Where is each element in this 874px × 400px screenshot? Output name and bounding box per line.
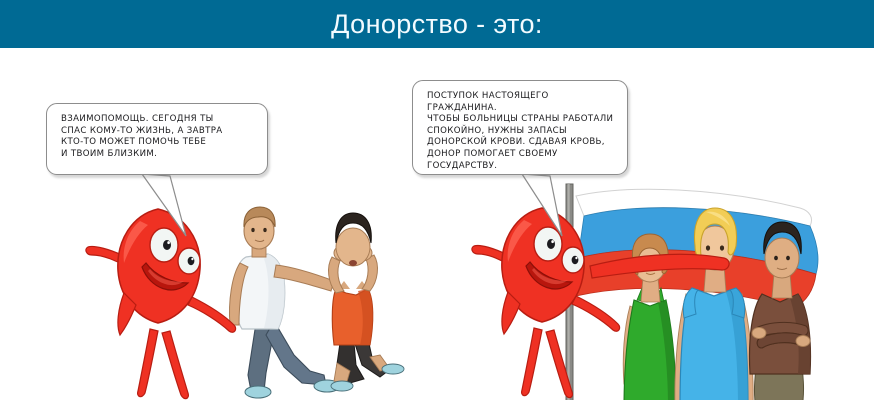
speech-bubble-left-text: ВЗАИМОПОМОЩЬ. СЕГОДНЯ ТЫ СПАС КОМУ-ТО ЖИ… <box>61 114 258 160</box>
left-bubble-tail <box>140 172 220 238</box>
speech-bubble-right: ПОСТУПОК НАСТОЯЩЕГО ГРАЖДАНИНА. ЧТОБЫ БО… <box>412 80 628 175</box>
crying-boy-figure <box>329 213 404 391</box>
speech-bubble-right-text: ПОСТУПОК НАСТОЯЩЕГО ГРАЖДАНИНА. ЧТОБЫ БО… <box>427 91 618 172</box>
poster-root: Донорство - это: ВЗАИМОПОМОЩЬ. СЕГОДНЯ Т… <box>0 0 874 400</box>
right-bubble-tail <box>520 172 600 238</box>
man-comforting-figure <box>229 207 340 398</box>
speech-bubble-left: ВЗАИМОПОМОЩЬ. СЕГОДНЯ ТЫ СПАС КОМУ-ТО ЖИ… <box>46 103 268 175</box>
page-title: Донорство - это: <box>0 0 874 48</box>
left-scene-illustration <box>88 205 418 400</box>
